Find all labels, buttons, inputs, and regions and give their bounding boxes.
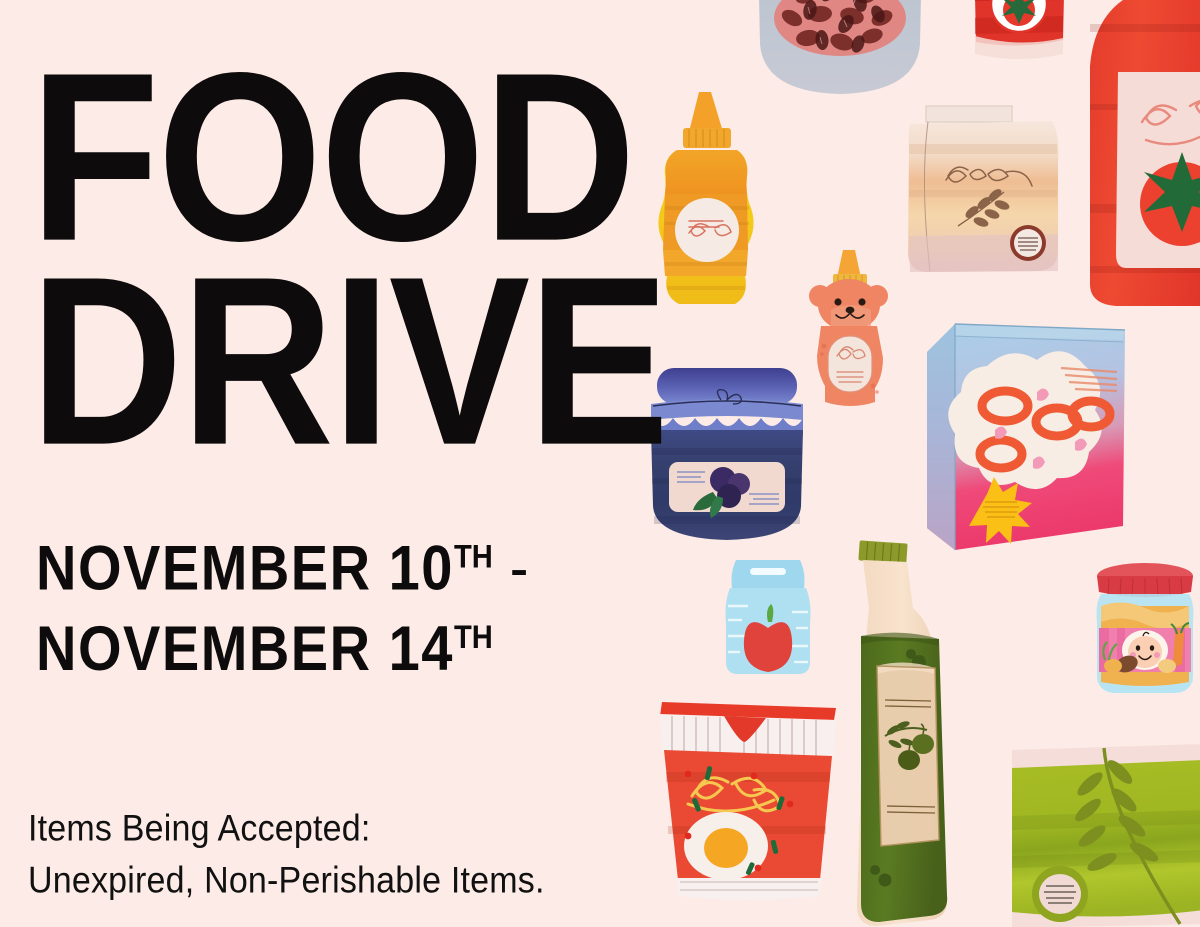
date-line-1: NOVEMBER 10TH - <box>36 528 636 608</box>
cereal-box-illustration <box>925 310 1130 565</box>
instant-noodle-cup-illustration <box>650 700 850 915</box>
headline-line-2: DRIVE <box>30 260 666 464</box>
date-range-dash: - <box>493 532 530 603</box>
date-line-2-ordinal: TH <box>454 620 493 656</box>
flour-bag-illustration <box>900 104 1065 279</box>
grain-package-illustration <box>1012 742 1200 927</box>
accepted-items-value: Unexpired, Non-Perishable Items. <box>28 860 545 902</box>
accepted-items-label: Items Being Accepted: <box>28 808 371 850</box>
applesauce-jar-illustration <box>722 558 814 676</box>
date-line-1-ordinal: TH <box>454 540 493 576</box>
date-line-1-text: NOVEMBER 10 <box>36 532 454 603</box>
food-drive-poster: FOOD DRIVE NOVEMBER 10TH - NOVEMBER 14TH… <box>0 0 1200 927</box>
ketchup-bottle-illustration <box>1082 0 1200 324</box>
olive-oil-bottle-illustration <box>843 540 993 927</box>
baby-food-jar-illustration <box>1087 556 1200 701</box>
canned-tomatoes-illustration <box>963 0 1073 84</box>
page-title: FOOD DRIVE <box>30 56 666 464</box>
event-dates: NOVEMBER 10TH - NOVEMBER 14TH <box>36 528 636 689</box>
date-line-2: NOVEMBER 14TH <box>36 608 636 688</box>
date-line-2-text: NOVEMBER 14 <box>36 613 454 684</box>
jam-jar-illustration <box>643 366 811 548</box>
honey-bear-illustration <box>795 248 905 413</box>
bag-of-beans-illustration <box>750 0 930 106</box>
poster-text-column: FOOD DRIVE NOVEMBER 10TH - NOVEMBER 14TH… <box>0 0 640 927</box>
